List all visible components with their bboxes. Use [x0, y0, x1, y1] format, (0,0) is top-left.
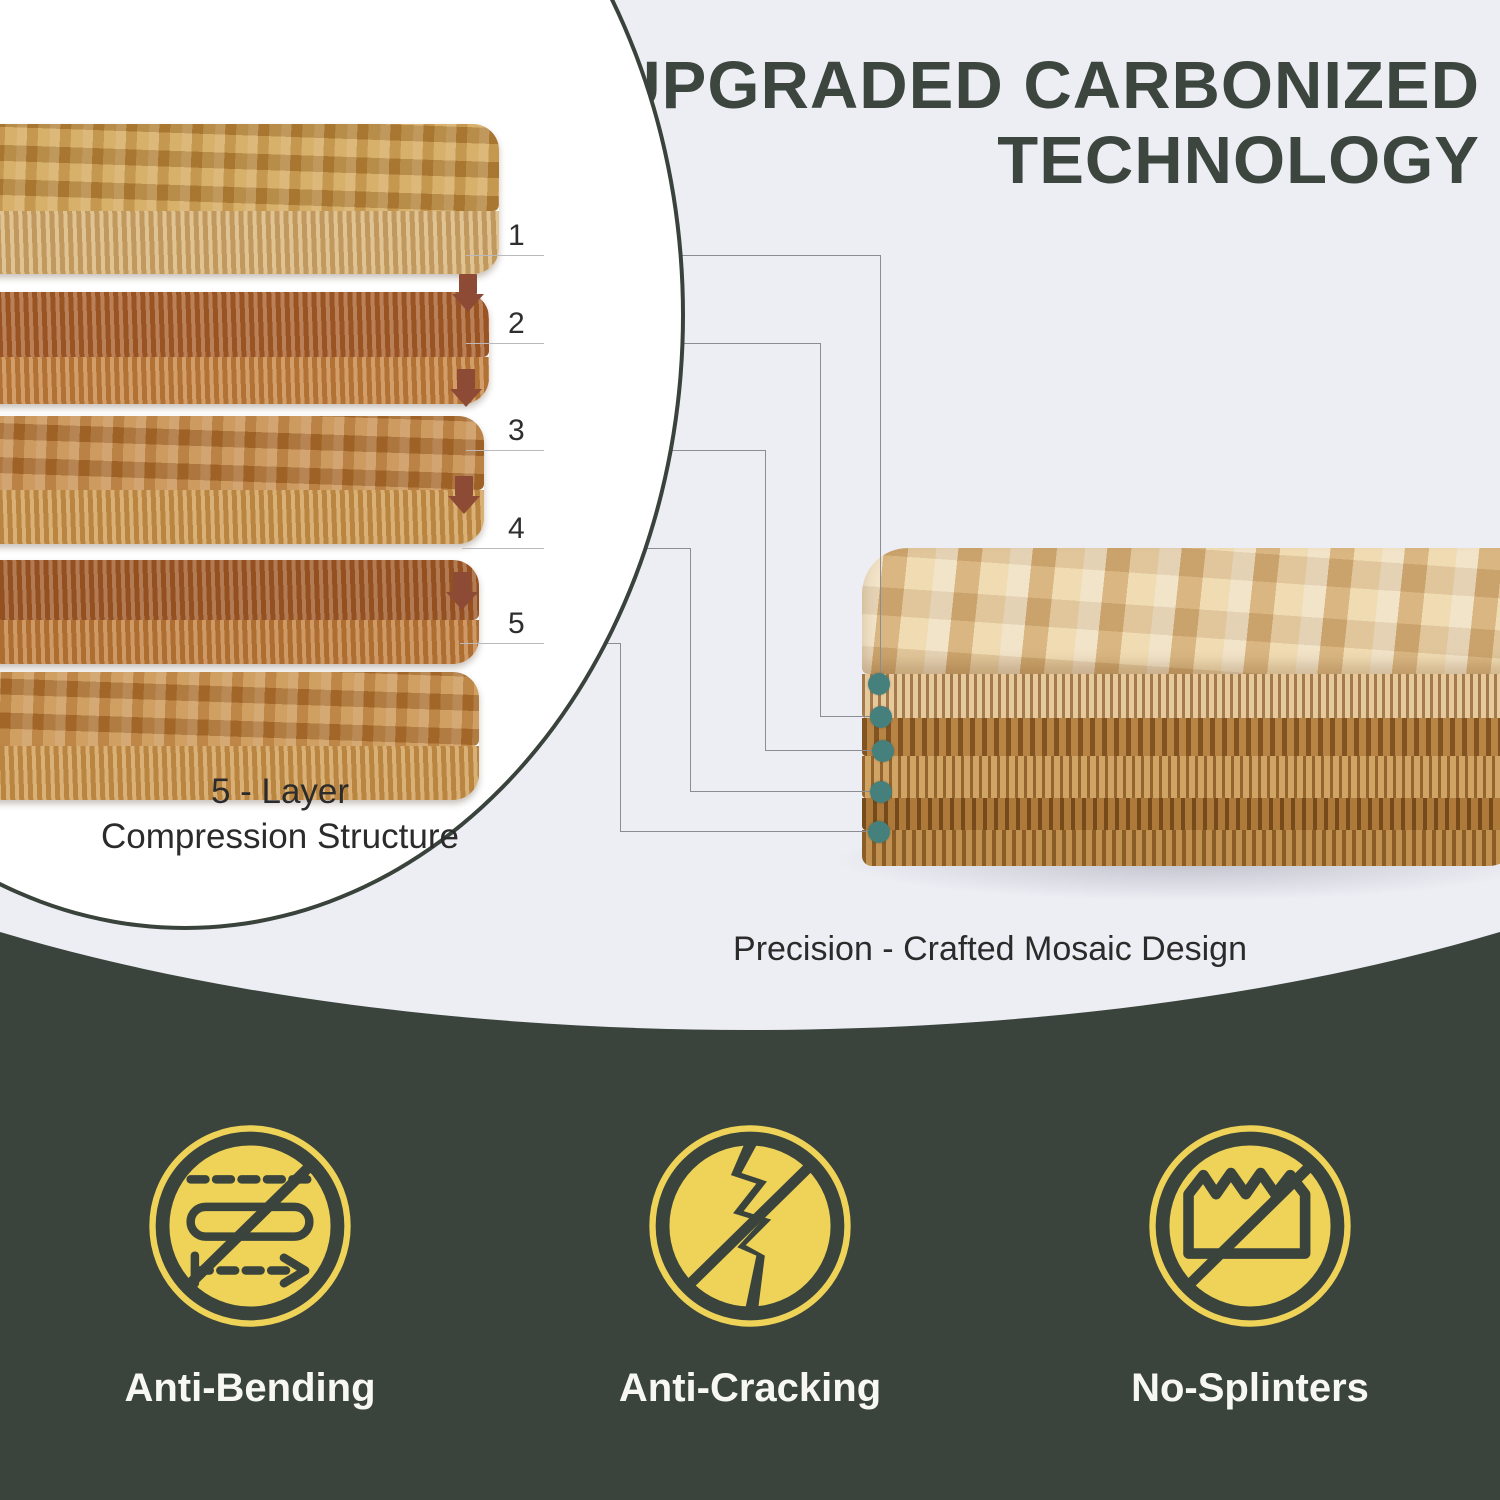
board-caption: Precision - Crafted Mosaic Design: [640, 930, 1340, 969]
compression-arrow-1: [459, 274, 477, 312]
layer-dot-2: [870, 706, 892, 728]
bamboo-layer-1-edge: [0, 211, 499, 274]
no-splinters-icon: [1144, 1120, 1356, 1332]
callout-number-1: 1: [508, 219, 525, 253]
compression-arrow-3-head: [448, 496, 480, 514]
connector-1-vertical: [880, 255, 881, 685]
board-layer-3: [862, 756, 1500, 798]
feature-label-anti-bending: Anti-Bending: [124, 1366, 375, 1411]
compression-arrow-4-shaft: [453, 572, 471, 592]
bamboo-layer-3: [0, 416, 484, 544]
connector-5-vertical: [620, 643, 621, 831]
layer-dot-1: [868, 673, 890, 695]
bamboo-layer-2: [0, 292, 489, 404]
callout-number-2: 2: [508, 307, 525, 341]
no-bending-icon: [144, 1120, 356, 1332]
compression-arrow-3-shaft: [455, 476, 473, 496]
headline-line-2: TECHNOLOGY: [600, 123, 1480, 198]
page-title: UPGRADED CARBONIZED TECHNOLOGY: [600, 48, 1480, 198]
compression-arrow-2-head: [450, 389, 482, 407]
compression-arrow-1-head: [452, 294, 484, 312]
connector-4-leg: [690, 791, 880, 792]
feature-label-anti-cracking: Anti-Cracking: [619, 1366, 881, 1411]
bamboo-layer-2-face: [0, 292, 489, 357]
product-infographic: UPGRADED CARBONIZED TECHNOLOGY Precision…: [0, 0, 1500, 1500]
layer-dot-4: [870, 781, 892, 803]
bamboo-layer-4: [0, 560, 479, 664]
board-top-surface: [862, 548, 1500, 674]
callout-number-4: 4: [508, 512, 525, 546]
callout-line-5: [460, 643, 544, 644]
headline-line-1: UPGRADED CARBONIZED: [600, 48, 1480, 123]
board-layer-4: [862, 798, 1500, 830]
callout-number-5: 5: [508, 607, 525, 641]
no-cracking-icon: [644, 1120, 856, 1332]
compression-arrow-4: [453, 572, 471, 610]
bamboo-layer-2-edge: [0, 357, 489, 404]
feature-label-no-splinters: No-Splinters: [1131, 1366, 1369, 1411]
layer-dot-5: [868, 821, 890, 843]
connector-4-vertical: [690, 548, 691, 791]
layer-dot-3: [872, 740, 894, 762]
bamboo-layer-1-face: [0, 124, 499, 211]
bamboo-layer-4-face: [0, 560, 479, 620]
compression-arrow-3: [455, 476, 473, 514]
structure-caption: 5 - Layer Compression Structure: [0, 770, 560, 860]
connector-2-vertical: [820, 343, 821, 716]
feature-anti-cracking: Anti-Cracking: [500, 1120, 1000, 1411]
bamboo-layer-1: [0, 124, 499, 274]
feature-anti-bending: Anti-Bending: [0, 1120, 500, 1411]
bamboo-layer-5-face: [0, 672, 479, 746]
callout-line-3: [466, 450, 544, 451]
structure-caption-line-1: 5 - Layer: [0, 770, 560, 815]
connector-3-vertical: [765, 450, 766, 750]
bamboo-board-photo: [862, 548, 1500, 848]
feature-no-splinters: No-Splinters: [1000, 1120, 1500, 1411]
board-layer-2: [862, 718, 1500, 756]
bamboo-layer-4-edge: [0, 620, 479, 664]
callout-line-1: [466, 255, 544, 256]
callout-line-4: [462, 548, 544, 549]
bamboo-layer-3-face: [0, 416, 484, 490]
bamboo-layer-3-edge: [0, 490, 484, 544]
connector-5-leg: [620, 831, 882, 832]
board-layer-5: [862, 830, 1500, 866]
compression-arrow-1-shaft: [459, 274, 477, 294]
board-layer-1: [862, 674, 1500, 718]
structure-caption-line-2: Compression Structure: [0, 815, 560, 860]
connector-3-leg: [765, 750, 880, 751]
compression-arrow-2-shaft: [457, 369, 475, 389]
callout-number-3: 3: [508, 414, 525, 448]
compression-arrow-4-head: [446, 592, 478, 610]
feature-badges: Anti-Bending Anti-Cracking No-Splinters: [0, 1120, 1500, 1411]
callout-line-2: [466, 343, 544, 344]
compression-arrow-2: [457, 369, 475, 407]
